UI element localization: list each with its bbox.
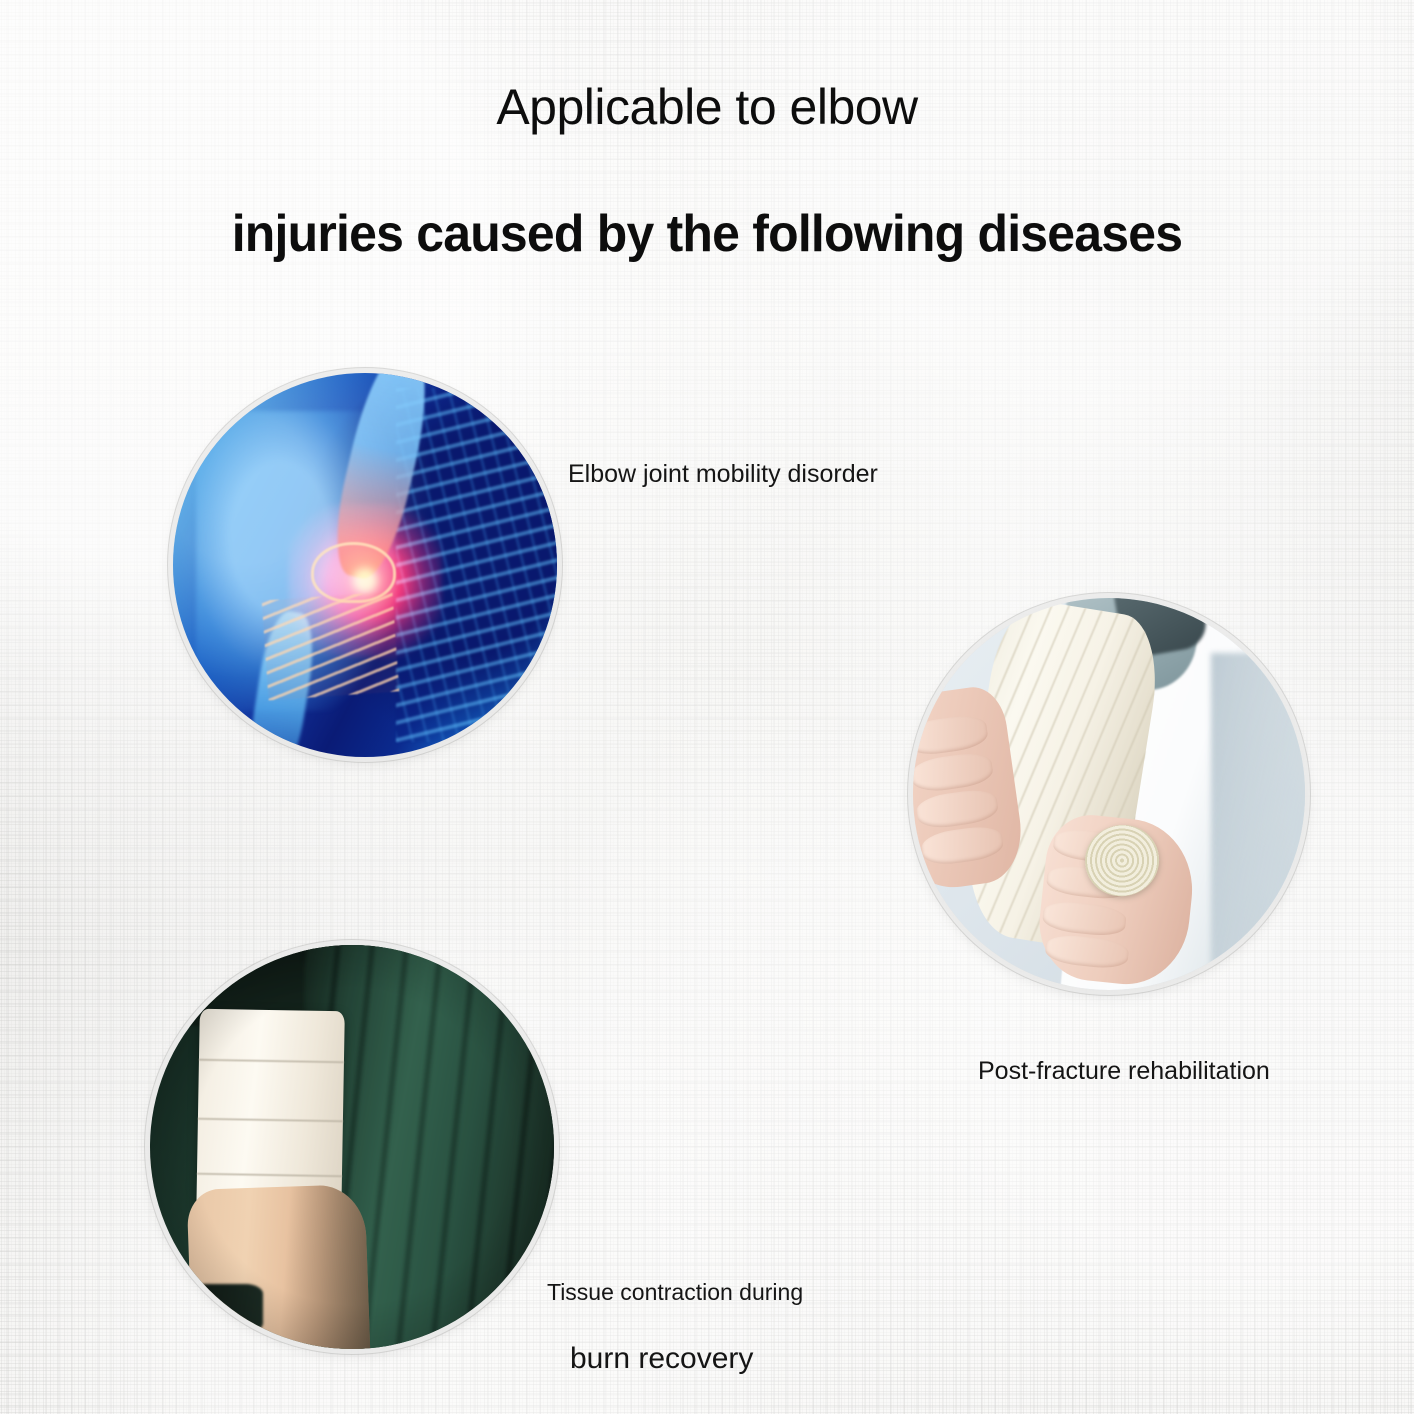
post-fracture-image (913, 598, 1305, 990)
bandage-soft-overlay (913, 598, 1305, 990)
page-title-line-1: Applicable to elbow (0, 82, 1414, 132)
caption-elbow-joint-mobility-disorder: Elbow joint mobility disorder (568, 459, 878, 489)
elbow-xray-image (173, 373, 557, 757)
caption-post-fracture-rehabilitation: Post-fracture rehabilitation (978, 1056, 1270, 1086)
page-title-line-2: injuries caused by the following disease… (28, 208, 1385, 260)
caption-burn-recovery-line-1: Tissue contraction during (547, 1279, 803, 1307)
xray-artwork (173, 373, 557, 757)
burn-recovery-image (150, 945, 554, 1349)
caption-burn-recovery-line-2: burn recovery (570, 1341, 753, 1377)
burn-artwork (150, 945, 554, 1349)
burn-vignette (150, 945, 554, 1349)
xray-glow (173, 373, 557, 757)
bandage-artwork (913, 598, 1305, 990)
